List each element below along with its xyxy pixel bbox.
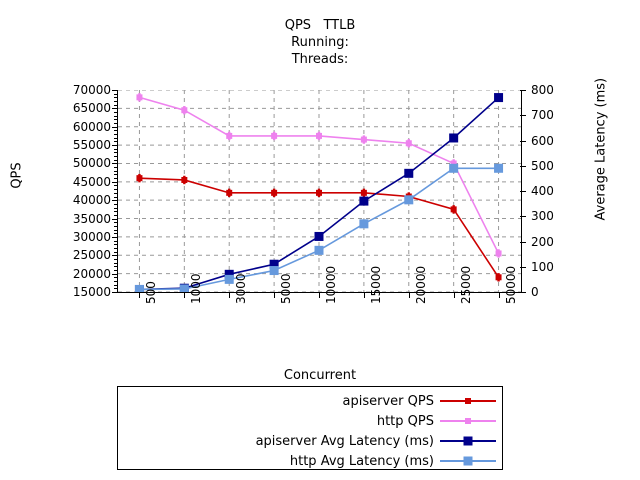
y-minor-tick-left xyxy=(114,138,118,139)
x-tick-mark xyxy=(229,292,230,298)
y-minor-tick-left xyxy=(114,193,118,194)
plot-svg xyxy=(117,90,521,293)
y-tick-label-right: 0 xyxy=(531,285,561,299)
chart-title-line-3: Threads: xyxy=(0,51,640,68)
y-minor-tick-left xyxy=(114,178,118,179)
y-minor-tick-left xyxy=(114,281,118,282)
y-minor-tick-left xyxy=(114,127,118,128)
chart-title-line-1: QPS TTLB xyxy=(0,17,640,34)
legend-item[interactable]: apiserver Avg Latency (ms) xyxy=(256,431,496,451)
legend-item-swatch xyxy=(440,455,496,467)
y-axis-label-right: Average Latency (ms) xyxy=(594,175,609,221)
y-minor-tick-left xyxy=(114,226,118,227)
y-tick-label-left: 50000 xyxy=(49,156,111,170)
y-tick-label-left: 20000 xyxy=(49,267,111,281)
y-minor-tick-left xyxy=(114,119,118,120)
y-tick-label-left: 40000 xyxy=(49,193,111,207)
y-minor-tick-left xyxy=(114,259,118,260)
y-minor-tick-left xyxy=(114,266,118,267)
x-tick-mark xyxy=(139,292,140,298)
legend-item-swatch xyxy=(440,415,496,427)
plot-area xyxy=(117,90,521,292)
y-minor-tick-left xyxy=(114,141,118,142)
y-tick-label-left: 45000 xyxy=(49,175,111,189)
x-tick-mark xyxy=(319,292,320,298)
right-axis-line xyxy=(521,90,522,293)
x-tick-mark xyxy=(184,292,185,298)
x-tick-mark xyxy=(409,292,410,298)
y-minor-tick-left xyxy=(114,230,118,231)
y-minor-tick-left xyxy=(114,263,118,264)
y-minor-tick-left xyxy=(114,252,118,253)
y-minor-tick-left xyxy=(114,90,118,91)
y-minor-tick-left xyxy=(114,288,118,289)
x-tick-label: 25000 xyxy=(459,266,473,304)
y-minor-tick-left xyxy=(114,237,118,238)
y-minor-tick-left xyxy=(114,204,118,205)
y-minor-tick-left xyxy=(114,292,118,293)
y-minor-tick-left xyxy=(114,182,118,183)
y-minor-tick-left xyxy=(114,167,118,168)
y-tick-label-right: 600 xyxy=(531,134,561,148)
y-tick-label-right: 100 xyxy=(531,260,561,274)
y-tick-label-right: 400 xyxy=(531,184,561,198)
y-tick-label-left: 60000 xyxy=(49,120,111,134)
y-minor-tick-left xyxy=(114,105,118,106)
y-minor-tick-left xyxy=(114,277,118,278)
y-minor-tick-left xyxy=(114,248,118,249)
y-minor-tick-left xyxy=(114,171,118,172)
x-tick-label: 5000 xyxy=(279,273,293,304)
x-tick-label: 15000 xyxy=(369,266,383,304)
y-minor-tick-left xyxy=(114,241,118,242)
y-minor-tick-left xyxy=(114,145,118,146)
x-tick-label: 20000 xyxy=(414,266,428,304)
y-minor-tick-left xyxy=(114,112,118,113)
y-tick-label-left: 70000 xyxy=(49,83,111,97)
chart-legend: apiserver QPShttp QPSapiserver Avg Laten… xyxy=(117,386,503,470)
y-tick-label-right: 500 xyxy=(531,159,561,173)
x-tick-label: 3000 xyxy=(234,273,248,304)
legend-item-label: http QPS xyxy=(377,414,434,429)
y-minor-tick-left xyxy=(114,244,118,245)
y-axis-label-left: QPS xyxy=(10,161,25,191)
y-minor-tick-left xyxy=(114,130,118,131)
y-tick-label-left: 35000 xyxy=(49,212,111,226)
y-minor-tick-left xyxy=(114,174,118,175)
y-minor-tick-left xyxy=(114,94,118,95)
y-minor-tick-left xyxy=(114,189,118,190)
x-tick-label: 10000 xyxy=(324,266,338,304)
y-minor-tick-left xyxy=(114,156,118,157)
y-tick-label-right: 800 xyxy=(531,83,561,97)
y-tick-label-left: 55000 xyxy=(49,138,111,152)
y-minor-tick-left xyxy=(114,108,118,109)
x-tick-label: 500 xyxy=(144,281,158,304)
chart-canvas: QPS TTLB Running: Threads: QPS Average L… xyxy=(0,0,640,480)
y-minor-tick-left xyxy=(114,185,118,186)
y-minor-tick-left xyxy=(114,116,118,117)
x-axis-label: Concurrent xyxy=(180,368,460,383)
y-tick-label-left: 15000 xyxy=(49,285,111,299)
y-minor-tick-left xyxy=(114,215,118,216)
y-minor-tick-left xyxy=(114,222,118,223)
y-tick-label-right: 200 xyxy=(531,235,561,249)
chart-title-line-2: Running: xyxy=(0,34,640,51)
y-minor-tick-left xyxy=(114,255,118,256)
y-minor-tick-left xyxy=(114,101,118,102)
y-tick-label-right: 700 xyxy=(531,108,561,122)
legend-item[interactable]: http Avg Latency (ms) xyxy=(290,451,496,471)
y-minor-tick-left xyxy=(114,270,118,271)
x-tick-mark xyxy=(499,292,500,298)
y-tick-label-left: 30000 xyxy=(49,230,111,244)
x-tick-label: 1000 xyxy=(189,273,203,304)
legend-item-swatch xyxy=(440,435,496,447)
x-tick-label: 50000 xyxy=(504,266,518,304)
y-minor-tick-left xyxy=(114,274,118,275)
y-minor-tick-left xyxy=(114,200,118,201)
y-minor-tick-left xyxy=(114,219,118,220)
y-minor-tick-left xyxy=(114,134,118,135)
y-minor-tick-left xyxy=(114,152,118,153)
y-tick-label-right: 300 xyxy=(531,209,561,223)
y-minor-tick-left xyxy=(114,233,118,234)
legend-item[interactable]: apiserver QPS xyxy=(343,391,496,411)
y-tick-label-left: 65000 xyxy=(49,101,111,115)
chart-title: QPS TTLB Running: Threads: xyxy=(0,17,640,68)
y-minor-tick-left xyxy=(114,208,118,209)
legend-item-swatch xyxy=(440,395,496,407)
x-tick-mark xyxy=(364,292,365,298)
x-tick-mark xyxy=(454,292,455,298)
legend-item-label: apiserver QPS xyxy=(343,394,434,409)
y-minor-tick-left xyxy=(114,97,118,98)
y-minor-tick-left xyxy=(114,211,118,212)
x-tick-mark xyxy=(274,292,275,298)
legend-item[interactable]: http QPS xyxy=(377,411,496,431)
legend-item-label: apiserver Avg Latency (ms) xyxy=(256,434,434,449)
y-minor-tick-left xyxy=(114,123,118,124)
y-minor-tick-left xyxy=(114,163,118,164)
y-minor-tick-left xyxy=(114,197,118,198)
y-minor-tick-left xyxy=(114,149,118,150)
y-tick-label-left: 25000 xyxy=(49,248,111,262)
legend-item-label: http Avg Latency (ms) xyxy=(290,454,434,469)
y-minor-tick-left xyxy=(114,285,118,286)
y-minor-tick-left xyxy=(114,160,118,161)
